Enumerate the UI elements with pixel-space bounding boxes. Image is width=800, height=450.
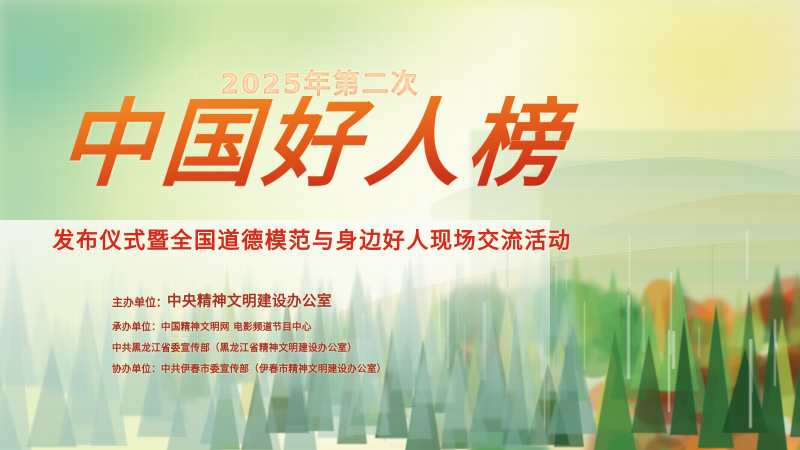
conifer-tree [244,355,282,450]
misty-conifer-layer [0,220,550,450]
conifer-tree [504,344,550,450]
birch-trunk [672,331,675,369]
birch-trunk [698,327,700,358]
conifer-tree [548,323,598,434]
birch-trunk [746,230,749,279]
birch-trunk [670,272,672,355]
birch-trunk [627,295,630,379]
birch-trunk [774,319,776,386]
birch-trunk [642,306,644,352]
conifer-tree [283,297,317,450]
conifer-tree [91,306,127,446]
birch-trunk [749,339,752,428]
tree-trunk-dark [620,298,623,329]
tree-trunk-dark [712,245,713,294]
poster-canvas: 2025年第二次 中国好人榜 发布仪式暨全国道德模范与身边好人现场交流活动 主办… [0,0,800,450]
